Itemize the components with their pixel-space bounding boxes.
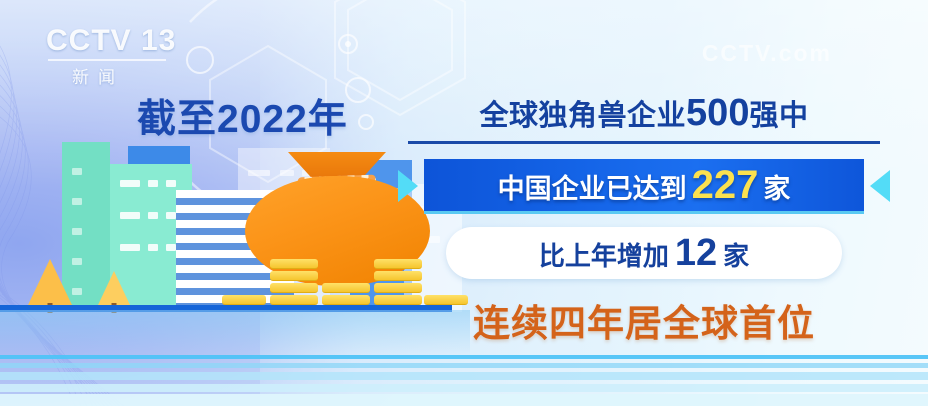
cctv-logo: CCTV 13 新闻 <box>46 26 196 88</box>
highlight-banner-wrap: 中国企业已达到227家 <box>398 159 890 213</box>
stat-line-china: 中国企业已达到227家 <box>498 163 791 208</box>
stat-growth-prefix: 比上年增加 <box>539 241 669 271</box>
cctv-logo-rule <box>48 59 166 61</box>
stat-line-total-suffix: 强中 <box>749 100 808 132</box>
stat-china-number: 227 <box>687 163 764 207</box>
tree-large <box>28 259 72 305</box>
lead-headline: 截至2022年 <box>137 88 348 144</box>
coin-stack-far-left <box>222 293 266 305</box>
cctv-logo-text: CCTV 13 <box>46 26 196 56</box>
coin-stack-mid <box>322 281 370 305</box>
highlight-banner: 中国企业已达到227家 <box>424 159 864 214</box>
stat-china-suffix: 家 <box>763 174 790 204</box>
stat-line-total-prefix: 全球独角兽企业 <box>480 100 687 132</box>
stat-growth-suffix: 家 <box>723 241 749 271</box>
stat-divider-rule <box>408 141 880 144</box>
growth-pill: 比上年增加12家 <box>446 227 842 279</box>
infographic-canvas: CCTV 13 新闻 CCTV.com 截至2022年 全球独角兽企业500强中… <box>0 0 928 406</box>
stat-line-growth: 比上年增加12家 <box>539 232 749 275</box>
coin-stack-left <box>270 257 318 305</box>
stat-growth-number: 12 <box>669 232 723 274</box>
stat-china-prefix: 中国企业已达到 <box>498 174 687 204</box>
chevron-left-icon <box>870 170 890 202</box>
tree-small <box>98 271 130 305</box>
stat-line-total: 全球独角兽企业500强中 <box>398 92 890 135</box>
cctv-watermark: CCTV.com <box>702 40 832 67</box>
bottom-stripe-bands <box>0 346 928 406</box>
stat-conclusion: 连续四年居全球首位 <box>398 293 890 347</box>
cctv-logo-subtitle: 新闻 <box>46 63 196 88</box>
chevron-right-icon <box>398 170 418 202</box>
stat-line-total-number: 500 <box>686 92 749 134</box>
stats-panel: 全球独角兽企业500强中 中国企业已达到227家 比上年增加12家 连续四年居全… <box>398 92 890 347</box>
